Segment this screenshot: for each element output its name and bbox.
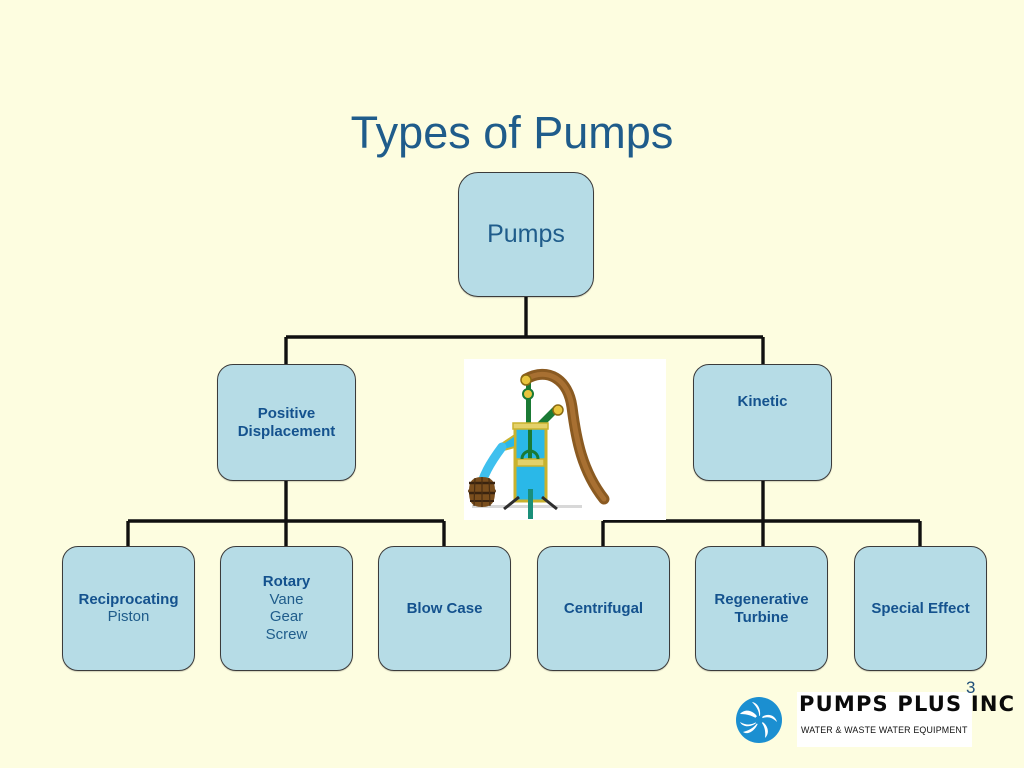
logo-company-name: PUMPS PLUS INC bbox=[799, 694, 971, 715]
node-kinetic-label: Kinetic bbox=[737, 393, 787, 410]
node-positive-displacement-line2: Displacement bbox=[238, 423, 336, 440]
node-regenerative-turbine-line1: Regenerative bbox=[714, 591, 808, 608]
node-positive-displacement-line1: Positive bbox=[258, 405, 316, 422]
node-regenerative-turbine-line2: Turbine bbox=[735, 609, 789, 626]
impeller-icon bbox=[735, 696, 783, 744]
logo-tagline: WATER & WASTE WATER EQUIPMENT bbox=[801, 725, 959, 736]
node-rotary-title: Rotary bbox=[263, 573, 311, 590]
node-centrifugal[interactable]: Centrifugal bbox=[537, 546, 670, 671]
node-blow-case-title: Blow Case bbox=[407, 600, 483, 617]
node-special-effect-title: Special Effect bbox=[871, 600, 969, 617]
page-number: 3 bbox=[966, 678, 975, 698]
node-rotary-item-0: Vane bbox=[270, 591, 304, 609]
node-pumps[interactable]: Pumps bbox=[458, 172, 594, 297]
slide-canvas: Types of Pumps Pumps Positive bbox=[0, 0, 1024, 768]
node-reciprocating[interactable]: Reciprocating Piston bbox=[62, 546, 195, 671]
node-reciprocating-item-0: Piston bbox=[108, 608, 150, 626]
logo-text-panel: PUMPS PLUS INC WATER & WASTE WATER EQUIP… bbox=[797, 692, 972, 747]
node-kinetic[interactable]: Kinetic bbox=[693, 364, 832, 481]
hand-pump-illustration bbox=[464, 359, 666, 520]
node-rotary-item-1: Gear bbox=[270, 608, 303, 626]
node-centrifugal-title: Centrifugal bbox=[564, 600, 643, 617]
node-reciprocating-title: Reciprocating bbox=[78, 591, 178, 608]
node-pumps-label: Pumps bbox=[487, 220, 565, 249]
node-special-effect[interactable]: Special Effect bbox=[854, 546, 987, 671]
node-blow-case[interactable]: Blow Case bbox=[378, 546, 511, 671]
node-rotary[interactable]: Rotary Vane Gear Screw bbox=[220, 546, 353, 671]
node-regenerative-turbine[interactable]: Regenerative Turbine bbox=[695, 546, 828, 671]
node-positive-displacement[interactable]: Positive Displacement bbox=[217, 364, 356, 481]
node-rotary-item-2: Screw bbox=[266, 626, 308, 644]
company-logo: PUMPS PLUS INC WATER & WASTE WATER EQUIP… bbox=[735, 692, 972, 748]
